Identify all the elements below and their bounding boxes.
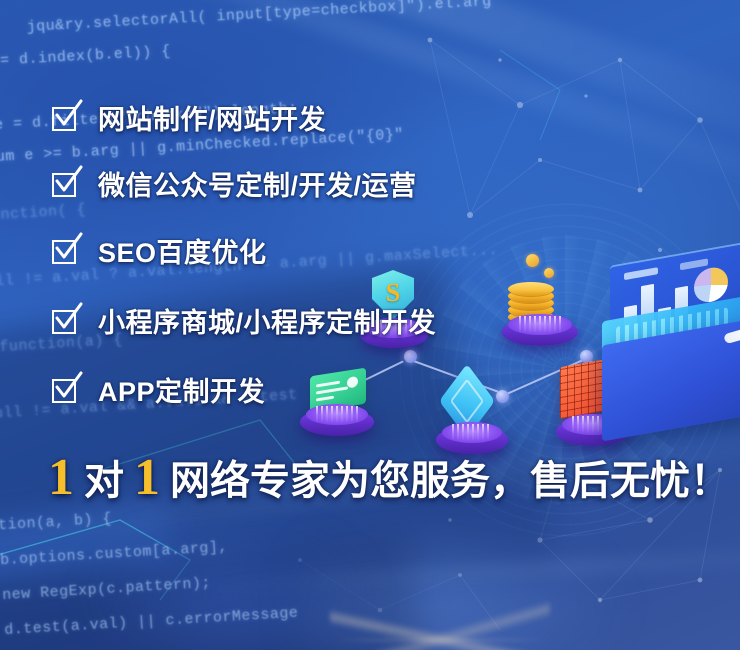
analytics-dashboard [588,258,740,458]
headline-slogan: 1 对 1 网络专家为您服务，售后无忧！ [48,452,730,507]
checkbox-checked-icon [52,104,79,131]
feature-item-seo[interactable]: SEO百度优化 [52,231,267,270]
connector-node [404,350,417,363]
checkbox-checked-icon [52,376,79,403]
feature-label: SEO百度优化 [98,231,267,270]
feature-item-wechat[interactable]: 微信公众号定制/开发/运营 [52,164,417,203]
checkbox-checked-icon [52,237,79,264]
checkbox-checked-icon [52,170,79,197]
checkbox-checked-icon [52,307,79,334]
feature-label: 网站制作/网站开发 [98,98,326,137]
headline-word-dui: 对 [84,455,124,507]
headline-number-second: 1 [134,452,160,504]
feature-item-app[interactable]: APP定制开发 [52,370,265,409]
feature-item-website[interactable]: 网站制作/网站开发 [52,98,326,137]
connector-node [496,390,509,403]
isometric-illustration: S [296,250,740,480]
promo-banner: jqu&ry.selectorAll( input[type=checkbox]… [0,0,740,650]
background-code-top: jqu&ry.selectorAll( input[type=checkbox]… [0,0,500,174]
feature-item-miniprogram[interactable]: 小程序商城/小程序定制开发 [52,301,436,340]
background-code-bottom: nction(a, b) { = b.options.custom[a.arg]… [0,491,299,649]
headline-tail-text: 网络专家为您服务，售后无忧！ [170,455,730,507]
feature-label: 小程序商城/小程序定制开发 [98,301,436,340]
feature-label: APP定制开发 [98,370,265,409]
lens-flare-decoration [330,560,550,650]
headline-number-first: 1 [48,452,74,504]
chart-pie [694,265,728,305]
feature-label: 微信公众号定制/开发/运营 [98,164,417,203]
